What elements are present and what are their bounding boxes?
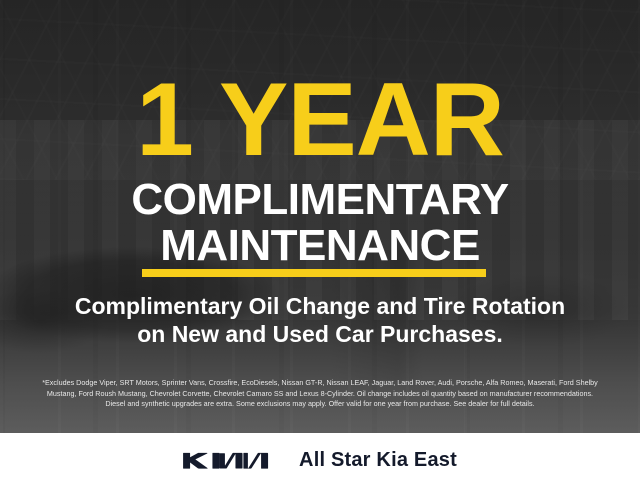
- offer-description-line-2: on New and Used Car Purchases.: [0, 320, 640, 348]
- dealer-name-label: All Star Kia East: [299, 449, 457, 472]
- banner-content: 1 YEAR COMPLIMENTARY MAINTENANCE Complim…: [0, 0, 640, 433]
- promotional-banner: 1 YEAR COMPLIMENTARY MAINTENANCE Complim…: [0, 0, 640, 488]
- footer-bar: All Star Kia East: [0, 433, 640, 488]
- disclaimer-line-3: Diesel and synthetic upgrades are extra.…: [14, 399, 626, 410]
- yellow-divider-bar: [142, 269, 486, 277]
- disclaimer-line-1: *Excludes Dodge Viper, SRT Motors, Sprin…: [14, 378, 626, 389]
- disclaimer-line-2: Mustang, Ford Roush Mustang, Chevrolet C…: [14, 389, 626, 400]
- headline-maintenance: MAINTENANCE: [0, 224, 640, 268]
- kia-logo: [183, 448, 275, 474]
- offer-description-line-1: Complimentary Oil Change and Tire Rotati…: [0, 292, 640, 320]
- headline-1-year: 1 YEAR: [0, 68, 640, 172]
- disclaimer-fine-print: *Excludes Dodge Viper, SRT Motors, Sprin…: [14, 378, 626, 410]
- headline-complimentary: COMPLIMENTARY: [0, 178, 640, 222]
